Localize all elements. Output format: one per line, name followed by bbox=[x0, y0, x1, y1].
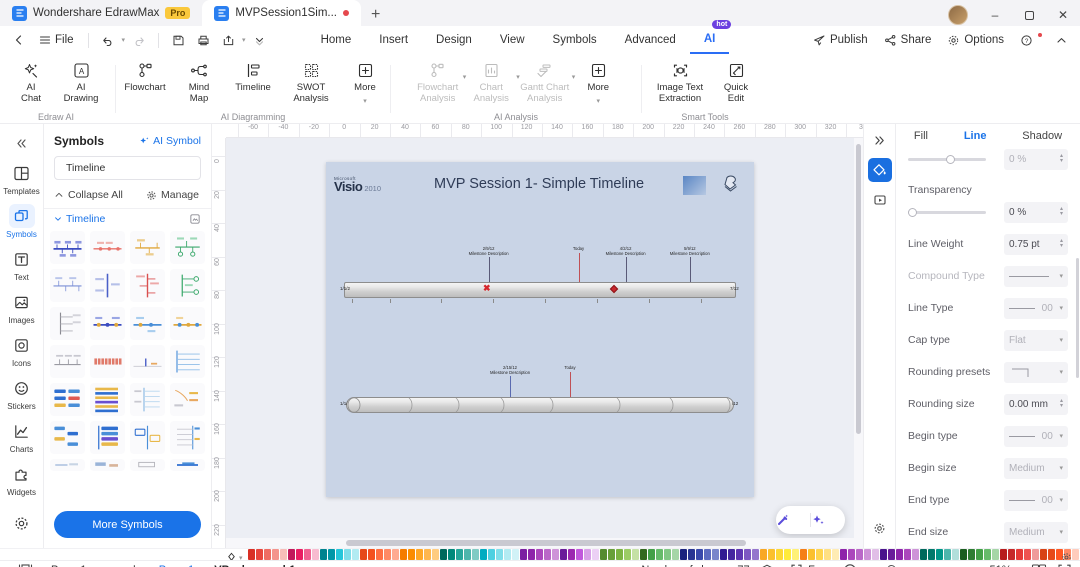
color-swatch[interactable] bbox=[496, 549, 503, 560]
chevron-down-icon[interactable]: ▾ bbox=[1059, 464, 1063, 472]
symbol-item[interactable] bbox=[130, 459, 165, 471]
color-swatch[interactable] bbox=[784, 549, 791, 560]
chevron-down-icon[interactable]: ▾ bbox=[1059, 528, 1063, 536]
ribbon-group-name-ai-analysis: AI Analysis bbox=[494, 112, 538, 122]
color-swatch[interactable] bbox=[888, 549, 895, 560]
milestone-label-3[interactable]: 5/9/12 Milestone Description bbox=[670, 246, 710, 257]
color-swatch[interactable] bbox=[992, 549, 999, 560]
undo-icon[interactable] bbox=[97, 29, 119, 51]
color-swatch[interactable] bbox=[704, 549, 711, 560]
color-swatch[interactable] bbox=[712, 549, 719, 560]
print-icon[interactable] bbox=[192, 29, 214, 51]
collapse-all-button[interactable]: Collapse All bbox=[54, 189, 123, 201]
symbol-item[interactable] bbox=[50, 421, 85, 454]
milestone-desc-4: Milestone Description bbox=[490, 370, 530, 375]
symbols-category-timeline[interactable]: Timeline bbox=[44, 208, 211, 229]
export-dropdown-icon[interactable]: ▾ bbox=[242, 36, 246, 44]
end-size-select[interactable]: Medium ▾ bbox=[1004, 522, 1068, 543]
color-swatch[interactable] bbox=[792, 549, 799, 560]
symbol-item[interactable] bbox=[130, 383, 165, 416]
color-swatch[interactable] bbox=[1000, 549, 1007, 560]
color-swatch[interactable] bbox=[720, 549, 727, 560]
color-swatch[interactable] bbox=[648, 549, 655, 560]
color-swatch[interactable] bbox=[336, 549, 343, 560]
more-diagramming-dropdown-icon[interactable]: ▾ bbox=[363, 97, 367, 105]
color-swatch[interactable] bbox=[448, 549, 455, 560]
color-swatch[interactable] bbox=[544, 549, 551, 560]
color-swatch[interactable] bbox=[248, 549, 255, 560]
chevron-down-icon[interactable]: ▾ bbox=[1059, 336, 1063, 344]
color-swatch[interactable] bbox=[872, 549, 879, 560]
milestone-leader-1 bbox=[489, 257, 490, 283]
sidebar-label-widgets: Widgets bbox=[7, 488, 36, 497]
color-swatch[interactable] bbox=[688, 549, 695, 560]
symbol-item[interactable] bbox=[130, 307, 165, 340]
color-swatch[interactable] bbox=[928, 549, 935, 560]
milestone-label-4[interactable]: 2/15/12 Milestone Description bbox=[490, 365, 530, 376]
customize-toolbar-icon[interactable] bbox=[249, 29, 271, 51]
color-swatch[interactable] bbox=[304, 549, 311, 560]
tab-advanced[interactable]: Advanced bbox=[611, 26, 690, 54]
zoom-in-button[interactable]: + bbox=[975, 562, 983, 567]
color-swatch[interactable] bbox=[816, 549, 823, 560]
ribbon-button-gantt-analysis[interactable]: Gantt ChartAnalysis bbox=[516, 58, 574, 104]
ribbon-button-mind-map[interactable]: MindMap bbox=[174, 58, 224, 104]
color-swatch[interactable] bbox=[584, 549, 591, 560]
canvas-horizontal-scrollbar[interactable] bbox=[226, 538, 863, 548]
redo-icon[interactable] bbox=[128, 29, 150, 51]
symbol-item[interactable] bbox=[50, 383, 85, 416]
symbol-item[interactable] bbox=[170, 421, 205, 454]
milestone-label-2[interactable]: 4/2/12 Milestone Description bbox=[606, 246, 646, 257]
color-swatch[interactable] bbox=[528, 549, 535, 560]
ruler-gridline bbox=[694, 124, 695, 138]
color-swatch[interactable] bbox=[568, 549, 575, 560]
color-swatch[interactable] bbox=[808, 549, 815, 560]
ruler-tick-label: 60 bbox=[431, 124, 439, 131]
chevron-down-icon[interactable]: ▾ bbox=[1059, 304, 1063, 312]
slider-knob[interactable] bbox=[946, 155, 955, 164]
color-swatch[interactable] bbox=[592, 549, 599, 560]
ai-symbol-button[interactable]: AI Symbol bbox=[139, 135, 201, 147]
color-swatch[interactable] bbox=[696, 549, 703, 560]
color-swatch[interactable] bbox=[832, 549, 839, 560]
symbol-item[interactable] bbox=[90, 459, 125, 471]
page-view-icon[interactable] bbox=[10, 563, 41, 567]
chevron-down-icon[interactable]: ▾ bbox=[1059, 432, 1063, 440]
app-tab[interactable]: Wondershare EdrawMax Pro bbox=[0, 0, 202, 26]
color-swatch[interactable] bbox=[768, 549, 775, 560]
color-swatch[interactable] bbox=[920, 549, 927, 560]
color-swatch[interactable] bbox=[520, 549, 527, 560]
cap-type-label: Cap type bbox=[908, 334, 950, 346]
more-symbols-button[interactable]: More Symbols bbox=[54, 511, 201, 538]
ribbon-button-flowchart[interactable]: Flowchart bbox=[116, 58, 174, 94]
media-panel-button[interactable] bbox=[868, 188, 892, 212]
spinner-icon[interactable]: ▴▾ bbox=[1060, 399, 1063, 409]
color-swatch[interactable] bbox=[760, 549, 767, 560]
color-swatch[interactable] bbox=[472, 549, 479, 560]
toolbar-divider bbox=[88, 33, 89, 48]
sidebar-item-charts[interactable]: Charts bbox=[2, 414, 42, 457]
help-button[interactable]: ? bbox=[1014, 29, 1045, 51]
sidebar-item-templates[interactable]: Templates bbox=[2, 156, 42, 199]
symbol-item[interactable] bbox=[130, 269, 165, 302]
tab-insert[interactable]: Insert bbox=[365, 26, 422, 54]
compound-type-select[interactable]: ▾ bbox=[1004, 266, 1068, 287]
ribbon-button-quick-edit[interactable]: QuickEdit bbox=[711, 58, 761, 104]
document-tab[interactable]: MVPSession1Sim... bbox=[202, 0, 361, 26]
color-swatch[interactable] bbox=[944, 549, 951, 560]
color-swatch[interactable] bbox=[440, 549, 447, 560]
ribbon-button-image-text-extraction[interactable]: Image TextExtraction bbox=[649, 58, 711, 104]
begin-type-select[interactable]: 00 ▾ bbox=[1004, 426, 1068, 447]
fill-panel-button[interactable] bbox=[868, 158, 892, 182]
color-swatch[interactable] bbox=[432, 549, 439, 560]
color-swatch[interactable] bbox=[936, 549, 943, 560]
color-swatch[interactable] bbox=[464, 549, 471, 560]
cap-type-select[interactable]: Flat ▾ bbox=[1004, 330, 1068, 351]
color-swatch[interactable] bbox=[744, 549, 751, 560]
symbol-item[interactable] bbox=[130, 421, 165, 454]
color-swatch[interactable] bbox=[664, 549, 671, 560]
color-swatch[interactable] bbox=[952, 549, 959, 560]
ribbon-button-ai-drawing[interactable]: A AIDrawing bbox=[56, 58, 106, 104]
rounding-presets-select[interactable]: ▾ bbox=[1004, 362, 1068, 383]
timeline-tick bbox=[390, 299, 391, 303]
color-swatch[interactable] bbox=[728, 549, 735, 560]
symbol-item[interactable] bbox=[90, 269, 125, 302]
tab-ai[interactable]: AI hot bbox=[690, 26, 730, 54]
color-swatch[interactable] bbox=[384, 549, 391, 560]
ribbon-group-ai-diagramming: Flowchart MindMap Timeline bbox=[119, 54, 387, 123]
ribbon-label-ai-chat: AIChat bbox=[21, 83, 41, 104]
symbol-item[interactable] bbox=[90, 421, 125, 454]
color-swatch[interactable] bbox=[536, 549, 543, 560]
ribbon-label-flowchart: Flowchart bbox=[124, 83, 165, 94]
timeline-1-bar[interactable] bbox=[344, 282, 736, 298]
canvas-vertical-scrollbar[interactable] bbox=[854, 138, 863, 538]
color-swatch[interactable] bbox=[512, 549, 519, 560]
symbol-item[interactable] bbox=[130, 345, 165, 378]
symbol-item[interactable] bbox=[170, 345, 205, 378]
fit-page-button[interactable] bbox=[1057, 563, 1072, 567]
sidebar-item-settings[interactable] bbox=[2, 506, 42, 538]
color-swatch[interactable] bbox=[312, 549, 319, 560]
color-swatch[interactable] bbox=[408, 549, 415, 560]
properties-panel: Fill Line Shadow 0 % ▴▾ Trans bbox=[895, 124, 1080, 548]
color-swatch[interactable] bbox=[800, 549, 807, 560]
ribbon-button-timeline[interactable]: Timeline bbox=[224, 58, 282, 94]
document-page[interactable]: Microsoft Visio 2010 MVP Session 1- Simp… bbox=[326, 162, 754, 497]
horizontal-ruler[interactable]: -60-40-200204060801001201401601802002202… bbox=[226, 124, 863, 138]
ruler-tick-label: 320 bbox=[825, 124, 837, 131]
color-swatch[interactable] bbox=[848, 549, 855, 560]
ai-sparkle-icon[interactable] bbox=[811, 513, 845, 527]
magic-wand-icon[interactable] bbox=[776, 513, 810, 527]
ribbon-label-timeline: Timeline bbox=[235, 83, 271, 94]
color-swatch[interactable] bbox=[280, 549, 287, 560]
focus-button[interactable]: Focus bbox=[790, 563, 857, 567]
color-swatch[interactable] bbox=[632, 549, 639, 560]
zoom-slider[interactable] bbox=[881, 564, 969, 567]
back-button[interactable] bbox=[8, 29, 30, 51]
milestone-desc-2: Milestone Description bbox=[606, 251, 646, 256]
widgets-icon bbox=[9, 462, 35, 486]
chevron-down-icon[interactable]: ▾ bbox=[1059, 496, 1063, 504]
color-swatch[interactable] bbox=[424, 549, 431, 560]
color-swatch[interactable] bbox=[392, 549, 399, 560]
symbol-item[interactable] bbox=[170, 459, 205, 471]
symbol-item[interactable] bbox=[90, 231, 125, 264]
timeline-tick bbox=[352, 299, 353, 303]
page-title[interactable]: MVP Session 1- Simple Timeline bbox=[434, 176, 644, 192]
color-swatch[interactable] bbox=[856, 549, 863, 560]
color-swatch[interactable] bbox=[736, 549, 743, 560]
color-swatch[interactable] bbox=[840, 549, 847, 560]
search-input[interactable] bbox=[66, 162, 201, 174]
color-swatch[interactable] bbox=[1024, 549, 1031, 560]
zoom-out-button[interactable]: − bbox=[867, 562, 875, 567]
sidebar-item-symbols[interactable]: Symbols bbox=[2, 199, 42, 242]
ribbon-button-more-diagramming[interactable]: More ▾ bbox=[340, 58, 390, 105]
ribbon-button-flowchart-analysis[interactable]: FlowchartAnalysis bbox=[409, 58, 467, 104]
property-row-begin-size: Begin size Medium ▾ bbox=[908, 452, 1068, 484]
color-swatch[interactable] bbox=[1040, 549, 1047, 560]
sidebar-item-widgets[interactable]: Widgets bbox=[2, 457, 42, 500]
expand-panel-button[interactable] bbox=[868, 128, 892, 152]
ribbon-button-swot[interactable]: SWOTAnalysis bbox=[282, 58, 340, 104]
header-blue-square[interactable] bbox=[683, 176, 706, 195]
symbol-item[interactable] bbox=[50, 459, 85, 471]
timeline-1-end-label: 7/12 bbox=[730, 286, 739, 291]
page-tab[interactable]: Page-1 bbox=[149, 564, 204, 567]
color-swatch[interactable] bbox=[624, 549, 631, 560]
color-swatch[interactable] bbox=[640, 549, 647, 560]
document-tab-label: MVPSession1Sim... bbox=[235, 7, 337, 19]
properties-scrollbar[interactable] bbox=[1076, 258, 1079, 378]
color-swatch[interactable] bbox=[1008, 549, 1015, 560]
sidebar-item-icons[interactable]: Icons bbox=[2, 328, 42, 371]
color-swatch[interactable] bbox=[608, 549, 615, 560]
color-swatch[interactable] bbox=[320, 549, 327, 560]
spinner-icon[interactable]: ▴▾ bbox=[1060, 239, 1063, 249]
color-swatch[interactable] bbox=[968, 549, 975, 560]
book-view-button[interactable] bbox=[1031, 563, 1047, 567]
spinner-icon[interactable]: ▴▾ bbox=[1060, 154, 1063, 164]
status-bar: Page-1 ▾ + Page-1 VBackground-1 Number o… bbox=[0, 560, 1080, 567]
more-analysis-dropdown-icon[interactable]: ▾ bbox=[597, 97, 601, 105]
symbol-item[interactable] bbox=[50, 307, 85, 340]
transparency-slider[interactable] bbox=[908, 206, 986, 218]
tab-home[interactable]: Home bbox=[307, 26, 366, 54]
property-row-compound-type: Compound Type ▾ bbox=[908, 260, 1068, 292]
symbol-item[interactable] bbox=[90, 345, 125, 378]
slider-knob[interactable] bbox=[908, 208, 917, 217]
ruler-tick-label: 80 bbox=[462, 124, 470, 131]
color-swatch[interactable] bbox=[960, 549, 967, 560]
page-selector[interactable]: Page-1 bbox=[41, 564, 96, 567]
symbols-panel-header: Symbols AI Symbol bbox=[44, 124, 211, 156]
tab-line[interactable]: Line bbox=[964, 130, 987, 142]
undo-dropdown-icon[interactable]: ▾ bbox=[122, 36, 126, 44]
status-bar-left: Page-1 ▾ + Page-1 VBackground-1 bbox=[0, 561, 306, 567]
ruler-gridline bbox=[360, 124, 361, 138]
color-swatch[interactable] bbox=[576, 549, 583, 560]
zoom-level[interactable]: 51% bbox=[989, 564, 1011, 567]
color-swatch[interactable] bbox=[560, 549, 567, 560]
tab-fill[interactable]: Fill bbox=[914, 130, 928, 142]
color-swatch[interactable] bbox=[656, 549, 663, 560]
milestone-label-1[interactable]: 2/9/12 Milestone Description bbox=[469, 246, 509, 257]
tab-symbols[interactable]: Symbols bbox=[539, 26, 611, 54]
ruler-tick-label: -40 bbox=[278, 124, 288, 131]
symbols-search-box[interactable] bbox=[54, 156, 201, 180]
drawing-canvas[interactable]: Microsoft Visio 2010 MVP Session 1- Simp… bbox=[226, 138, 863, 548]
color-swatch[interactable] bbox=[1072, 549, 1079, 560]
rounding-size-field[interactable]: 0.00 mm ▴▾ bbox=[1004, 394, 1068, 415]
collapse-panel-button[interactable] bbox=[0, 130, 43, 156]
sidebar-item-text[interactable]: Text bbox=[2, 242, 42, 285]
color-swatch[interactable] bbox=[1048, 549, 1055, 560]
symbol-item[interactable] bbox=[170, 231, 205, 264]
color-swatch[interactable] bbox=[376, 549, 383, 560]
layers-button[interactable]: ▾ bbox=[760, 563, 781, 567]
color-swatch[interactable] bbox=[896, 549, 903, 560]
tab-design[interactable]: Design bbox=[422, 26, 486, 54]
color-swatch[interactable] bbox=[616, 549, 623, 560]
canvas-settings-button[interactable] bbox=[868, 516, 892, 540]
color-swatch[interactable] bbox=[680, 549, 687, 560]
color-swatch[interactable] bbox=[264, 549, 271, 560]
symbol-item[interactable] bbox=[90, 383, 125, 416]
symbol-item[interactable] bbox=[50, 345, 85, 378]
today-label-2[interactable]: Today bbox=[564, 365, 575, 370]
options-button[interactable]: Options bbox=[941, 29, 1010, 51]
symbols-grid bbox=[44, 229, 211, 503]
ribbon-button-chart-analysis[interactable]: ChartAnalysis bbox=[462, 58, 520, 104]
ruler-tick-label: 160 bbox=[214, 423, 221, 435]
manage-button[interactable]: Manage bbox=[146, 189, 199, 201]
rounding-presets-label: Rounding presets bbox=[908, 366, 990, 378]
symbol-item[interactable] bbox=[130, 231, 165, 264]
color-swatch[interactable] bbox=[352, 549, 359, 560]
tab-shadow[interactable]: Shadow bbox=[1022, 130, 1062, 142]
chevron-down-icon[interactable]: ▾ bbox=[1059, 272, 1063, 280]
top-value-field[interactable]: 0 % ▴▾ bbox=[1004, 149, 1068, 170]
sidebar-item-stickers[interactable]: Stickers bbox=[2, 371, 42, 414]
spinner-icon[interactable]: ▴▾ bbox=[1060, 207, 1063, 217]
timeline-tick bbox=[597, 299, 598, 303]
chevron-down-icon[interactable]: ▾ bbox=[1059, 368, 1063, 376]
timeline-tick bbox=[701, 299, 702, 303]
transparency-field[interactable]: 0 % ▴▾ bbox=[1004, 202, 1068, 223]
ruler-gridline bbox=[238, 124, 239, 138]
symbol-item[interactable] bbox=[50, 269, 85, 302]
symbol-item[interactable] bbox=[170, 307, 205, 340]
sidebar-label-stickers: Stickers bbox=[7, 402, 35, 411]
color-swatch[interactable] bbox=[488, 549, 495, 560]
vertical-ruler[interactable]: 020406080100120140160180200220 bbox=[212, 138, 226, 548]
add-page-button[interactable]: + bbox=[120, 561, 149, 567]
color-swatch[interactable] bbox=[328, 549, 335, 560]
symbol-item[interactable] bbox=[50, 231, 85, 264]
share-button[interactable]: Share bbox=[878, 29, 938, 51]
color-swatch[interactable] bbox=[976, 549, 983, 560]
stamp-icon[interactable] bbox=[721, 174, 741, 192]
publish-label: Publish bbox=[830, 34, 868, 46]
milestone-marker-x[interactable]: ✖ bbox=[483, 284, 491, 293]
color-swatch[interactable] bbox=[360, 549, 367, 560]
symbol-item[interactable] bbox=[170, 269, 205, 302]
line-weight-field[interactable]: 0.75 pt ▴▾ bbox=[1004, 234, 1068, 255]
end-type-select[interactable]: 00 ▾ bbox=[1004, 490, 1068, 511]
color-swatch[interactable] bbox=[480, 549, 487, 560]
color-swatches[interactable] bbox=[248, 549, 1080, 560]
color-swatch[interactable] bbox=[1032, 549, 1039, 560]
ribbon-button-ai-chat[interactable]: AIChat bbox=[6, 58, 56, 104]
publish-button[interactable]: Publish bbox=[807, 29, 874, 51]
color-swatch[interactable] bbox=[456, 549, 463, 560]
symbol-item[interactable] bbox=[90, 307, 125, 340]
color-swatch[interactable] bbox=[256, 549, 263, 560]
color-swatch[interactable] bbox=[288, 549, 295, 560]
file-menu-button[interactable]: File bbox=[33, 34, 80, 46]
ribbon-button-more-analysis[interactable]: More ▾ bbox=[573, 58, 623, 105]
color-swatch[interactable] bbox=[752, 549, 759, 560]
color-swatch[interactable] bbox=[1016, 549, 1023, 560]
color-swatch[interactable] bbox=[400, 549, 407, 560]
today-label-1[interactable]: Today bbox=[573, 246, 584, 251]
save-icon[interactable] bbox=[167, 29, 189, 51]
library-icon[interactable] bbox=[189, 213, 201, 225]
collapse-ribbon-button[interactable] bbox=[1049, 29, 1074, 51]
slider-track bbox=[908, 211, 986, 214]
color-swatch[interactable] bbox=[600, 549, 607, 560]
tab-view[interactable]: View bbox=[486, 26, 539, 54]
color-swatch[interactable] bbox=[552, 549, 559, 560]
line-type-select[interactable]: 00 ▾ bbox=[1004, 298, 1068, 319]
avatar[interactable] bbox=[948, 5, 968, 25]
opacity-slider[interactable] bbox=[908, 153, 986, 165]
color-swatch[interactable] bbox=[504, 549, 511, 560]
color-swatch[interactable] bbox=[824, 549, 831, 560]
color-swatch[interactable] bbox=[984, 549, 991, 560]
color-swatch[interactable] bbox=[880, 549, 887, 560]
export-icon[interactable] bbox=[217, 29, 239, 51]
background-tab[interactable]: VBackground-1 bbox=[204, 564, 305, 567]
color-swatch[interactable] bbox=[344, 549, 351, 560]
begin-size-select[interactable]: Medium ▾ bbox=[1004, 458, 1068, 479]
sidebar-item-images[interactable]: Images bbox=[2, 285, 42, 328]
color-swatch[interactable] bbox=[272, 549, 279, 560]
new-tab-button[interactable]: + bbox=[361, 6, 390, 26]
color-swatch[interactable] bbox=[296, 549, 303, 560]
color-swatch[interactable] bbox=[368, 549, 375, 560]
color-swatch[interactable] bbox=[776, 549, 783, 560]
color-swatch[interactable] bbox=[904, 549, 911, 560]
line-preview-icon bbox=[1009, 276, 1049, 277]
color-swatch[interactable] bbox=[864, 549, 871, 560]
scrollbar-thumb[interactable] bbox=[856, 144, 861, 434]
color-swatch[interactable] bbox=[416, 549, 423, 560]
symbol-item[interactable] bbox=[170, 383, 205, 416]
color-swatch[interactable] bbox=[912, 549, 919, 560]
zoom-controls: − + 51% ▾ bbox=[867, 562, 1021, 567]
color-swatch[interactable] bbox=[672, 549, 679, 560]
ruler-tick-label: 20 bbox=[371, 124, 379, 131]
scrollbar-thumb[interactable] bbox=[346, 540, 746, 546]
